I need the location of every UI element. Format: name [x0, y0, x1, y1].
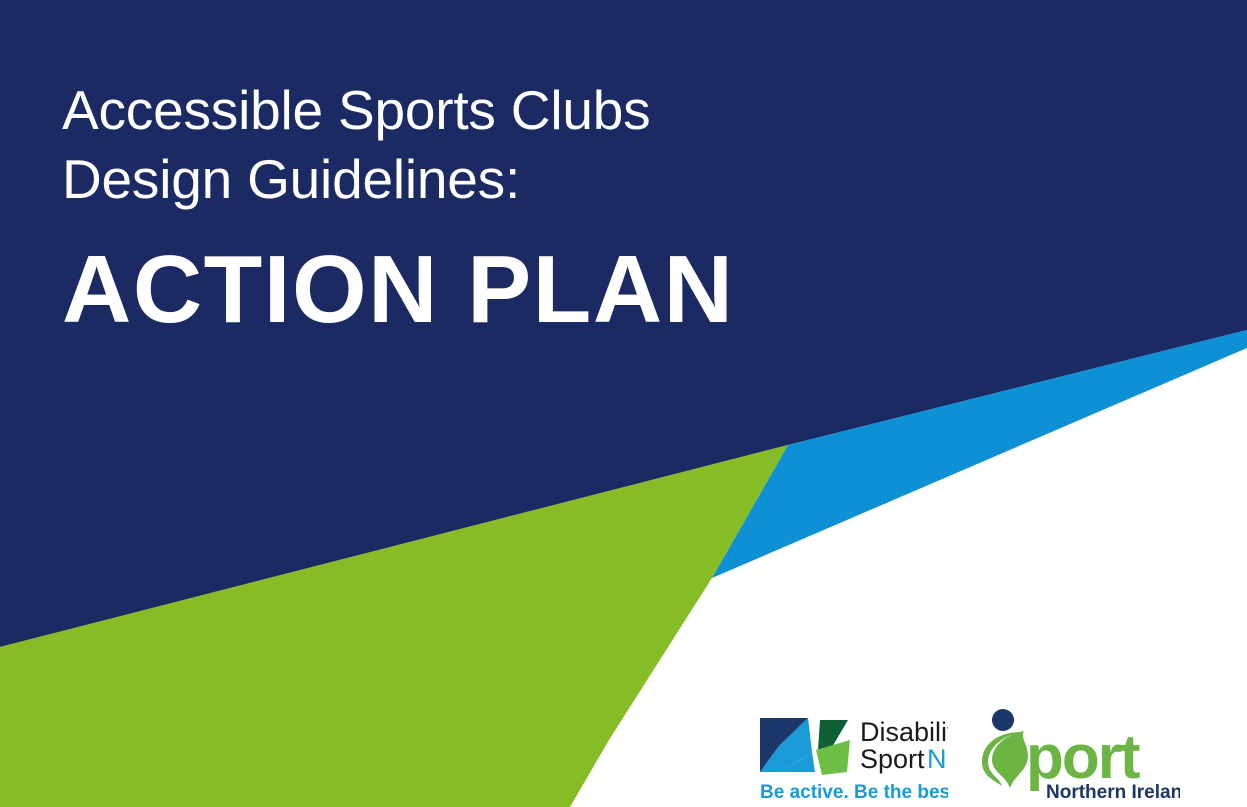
disability-sport-ni-logo: Disability Sport NI Be active. Be the be…	[752, 706, 948, 804]
dsni-tagline: Be active. Be the best.	[760, 782, 948, 803]
sportni-wordmark-text: sport	[980, 802, 981, 803]
sportni-figure-head-icon	[992, 709, 1014, 731]
dsni-tagline-text: Be active. Be the best.	[752, 804, 753, 805]
page-subtitle-line-2: Design Guidelines:	[62, 145, 882, 214]
cover-page: Accessible Sports Clubs Design Guideline…	[0, 0, 1247, 807]
sportni-subtitle-text: Northern Ireland	[980, 802, 981, 803]
sportni-subtitle: Northern Ireland	[1046, 782, 1180, 802]
disability-sport-ni-logo-svg: Disability Sport NI Be active. Be the be…	[752, 706, 948, 804]
page-title: ACTION PLAN	[62, 240, 882, 340]
dsni-wordmark-line-1-text: Disability	[752, 804, 753, 805]
logo-row: Disability Sport NI Be active. Be the be…	[752, 702, 1182, 807]
dsni-wordmark-ni-text: NI	[752, 804, 753, 805]
dsni-wordmark-line-2-text: Sport	[752, 804, 753, 805]
page-subtitle-line-1: Accessible Sports Clubs	[62, 76, 882, 145]
sport-northern-ireland-logo-svg: port Northern Ireland	[980, 704, 1180, 802]
dsni-wordmark-line-1: Disability	[860, 717, 948, 747]
dsni-wordmark-line-2: Sport	[860, 744, 925, 774]
dsni-butterfly-mark-icon	[760, 718, 850, 775]
sport-northern-ireland-logo: port Northern Ireland sport Northern Ire…	[980, 704, 1180, 802]
title-block: Accessible Sports Clubs Design Guideline…	[62, 76, 882, 340]
dsni-wordmark-ni: NI	[927, 744, 948, 774]
